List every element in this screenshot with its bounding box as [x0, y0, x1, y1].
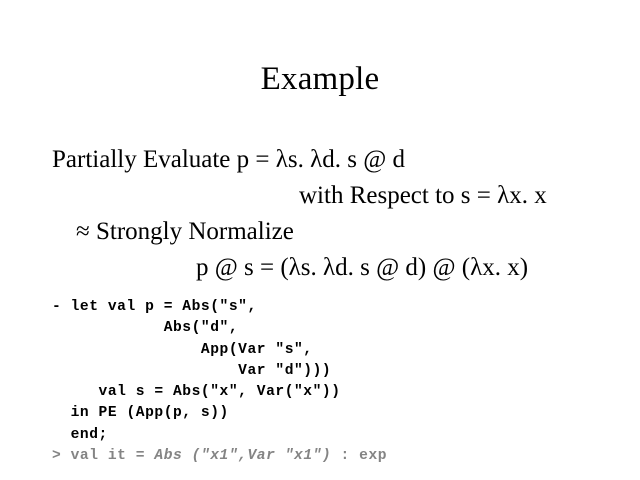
code-line: App(Var "s", [52, 340, 632, 361]
code-line: - let val p = Abs("s", [52, 297, 632, 318]
output-type: : exp [331, 448, 387, 464]
body-line-3: ≈ Strongly Normalize [0, 214, 640, 250]
body-line-2: with Respect to s = λx. x [0, 178, 640, 214]
body-line-4: p @ s = (λs. λd. s @ d) @ (λx. x) [0, 250, 640, 286]
output-value: Abs ("x1",Var "x1") [154, 448, 331, 464]
body-line-1: Partially Evaluate p = λs. λd. s @ d [0, 142, 640, 178]
code-line: val s = Abs("x", Var("x")) [52, 382, 632, 403]
code-block: - let val p = Abs("s", Abs("d", App(Var … [52, 297, 632, 467]
page-title: Example [0, 60, 640, 98]
slide-canvas: Example Partially Evaluate p = λs. λd. s… [0, 0, 640, 480]
code-line: in PE (App(p, s)) [52, 403, 632, 424]
body-text-block: Partially Evaluate p = λs. λd. s @ d wit… [0, 142, 640, 286]
output-prompt: > val it = [52, 448, 154, 464]
code-line: Abs("d", [52, 318, 632, 339]
code-line: end; [52, 425, 632, 446]
code-output-line: > val it = Abs ("x1",Var "x1") : exp [52, 446, 632, 467]
code-line: Var "d"))) [52, 361, 632, 382]
